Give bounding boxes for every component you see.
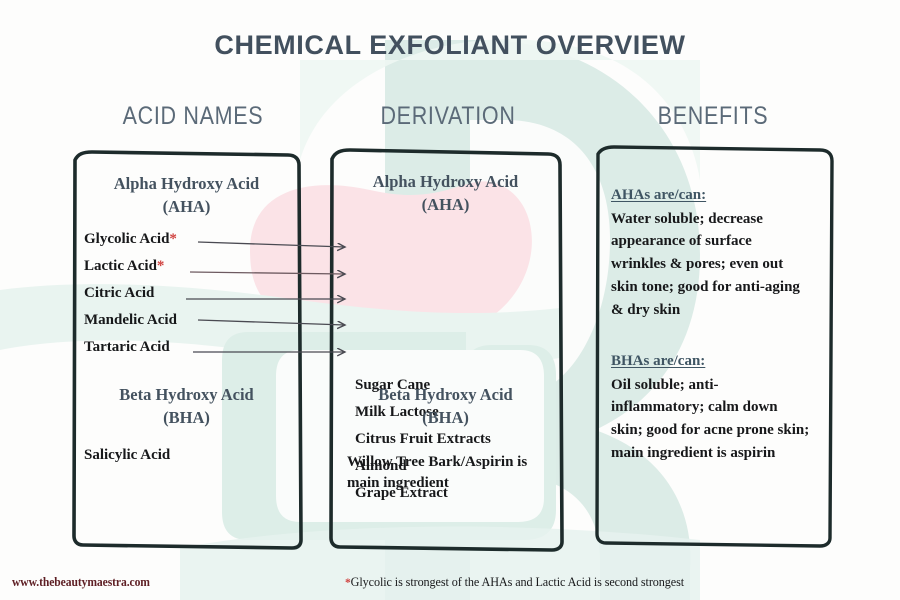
acid-item-glycolic: Glycolic Acid* <box>84 232 177 247</box>
derivation-aha-heading-line2: (AHA) <box>343 193 548 216</box>
derivation-bha-text: Willow Tree Bark/Aspirin is main ingredi… <box>347 452 547 495</box>
acid-names-bha-heading-line1: Beta Hydroxy Acid <box>84 383 289 406</box>
asterisk-lactic: * <box>157 258 165 274</box>
acid-item-mandelic: Mandelic Acid <box>84 313 177 328</box>
derivation-bha-heading-line2: (BHA) <box>343 406 548 429</box>
derivation-bha-heading-line1: Beta Hydroxy Acid <box>343 383 548 406</box>
derivation-item-citrus-fruit: Citrus Fruit Extracts <box>355 432 491 447</box>
acid-names-bha-list: Salicylic Acid <box>84 448 289 463</box>
derivation-aha-heading-line1: Alpha Hydroxy Acid <box>343 170 548 193</box>
column-header-acid-names: ACID NAMES <box>90 102 296 131</box>
benefits-bha-block: BHAs are/can: Oil soluble; anti-inflamma… <box>611 352 811 465</box>
benefits-bha-heading: BHAs are/can: <box>611 352 811 372</box>
page-title: CHEMICAL EXFOLIANT OVERVIEW <box>0 30 900 61</box>
acid-names-bha-heading-line2: (BHA) <box>84 406 289 429</box>
acid-item-salicylic: Salicylic Acid <box>84 448 289 463</box>
derivation-bha-heading-block: Beta Hydroxy Acid (BHA) <box>343 383 548 430</box>
footer-note: *Glycolic is strongest of the AHAs and L… <box>345 575 684 590</box>
column-header-benefits: BENEFITS <box>610 102 816 131</box>
acid-names-aha-heading-block: Alpha Hydroxy Acid (AHA) <box>84 172 289 219</box>
acid-names-aha-heading-line2: (AHA) <box>84 195 289 218</box>
benefits-bha-text: Oil soluble; anti-inflammatory; calm dow… <box>611 374 811 465</box>
asterisk-glycolic: * <box>169 231 177 247</box>
column-header-derivation: DERIVATION <box>345 102 551 131</box>
acid-item-citric: Citric Acid <box>84 286 154 301</box>
acid-names-aha-list: Glycolic Acid* Lactic Acid* Citric Acid … <box>84 232 294 367</box>
derivation-aha-heading-block: Alpha Hydroxy Acid (AHA) <box>343 170 548 217</box>
benefits-aha-text: Water soluble; decrease appearance of su… <box>611 208 809 322</box>
benefits-aha-block: AHAs are/can: Water soluble; decrease ap… <box>611 186 809 321</box>
benefits-aha-heading: AHAs are/can: <box>611 186 809 206</box>
footer-note-text: Glycolic is strongest of the AHAs and La… <box>351 575 684 589</box>
infographic-canvas: CHEMICAL EXFOLIANT OVERVIEW ACID NAMES D… <box>0 0 900 600</box>
acid-item-tartaric: Tartaric Acid <box>84 340 170 355</box>
acid-item-lactic: Lactic Acid* <box>84 259 164 274</box>
acid-names-aha-heading-line1: Alpha Hydroxy Acid <box>84 172 289 195</box>
acid-names-bha-heading-block: Beta Hydroxy Acid (BHA) <box>84 383 289 430</box>
footer-website-url[interactable]: www.thebeautymaestra.com <box>12 575 150 590</box>
